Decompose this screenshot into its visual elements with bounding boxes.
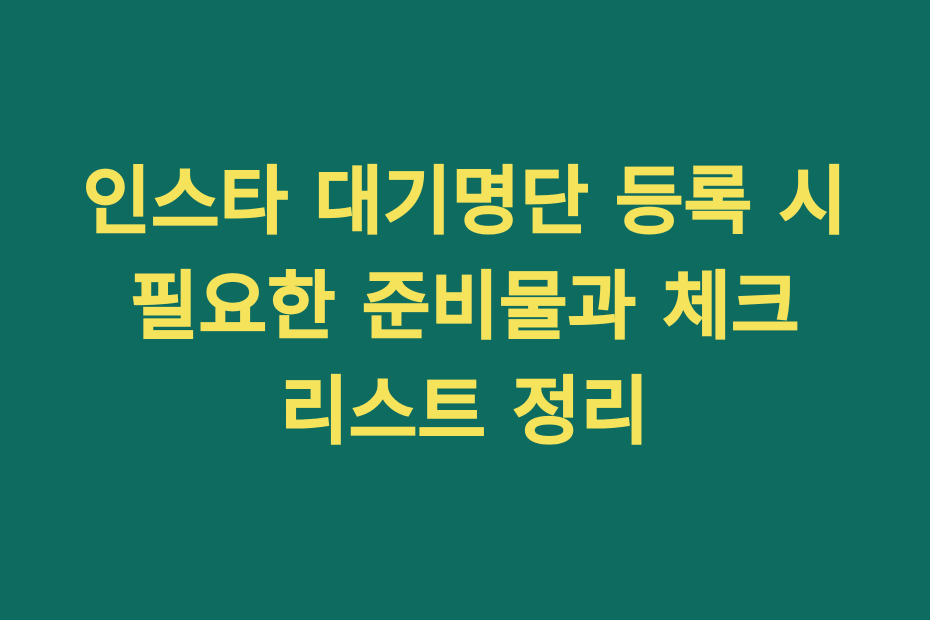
thumbnail-card: 인스타 대기명단 등록 시 필요한 준비물과 체크 리스트 정리	[0, 0, 930, 620]
page-title: 인스타 대기명단 등록 시 필요한 준비물과 체크 리스트 정리	[0, 150, 930, 465]
title-line-2: 필요한 준비물과 체크	[24, 255, 906, 360]
title-line-3: 리스트 정리	[24, 360, 906, 465]
title-line-1: 인스타 대기명단 등록 시	[24, 150, 906, 255]
